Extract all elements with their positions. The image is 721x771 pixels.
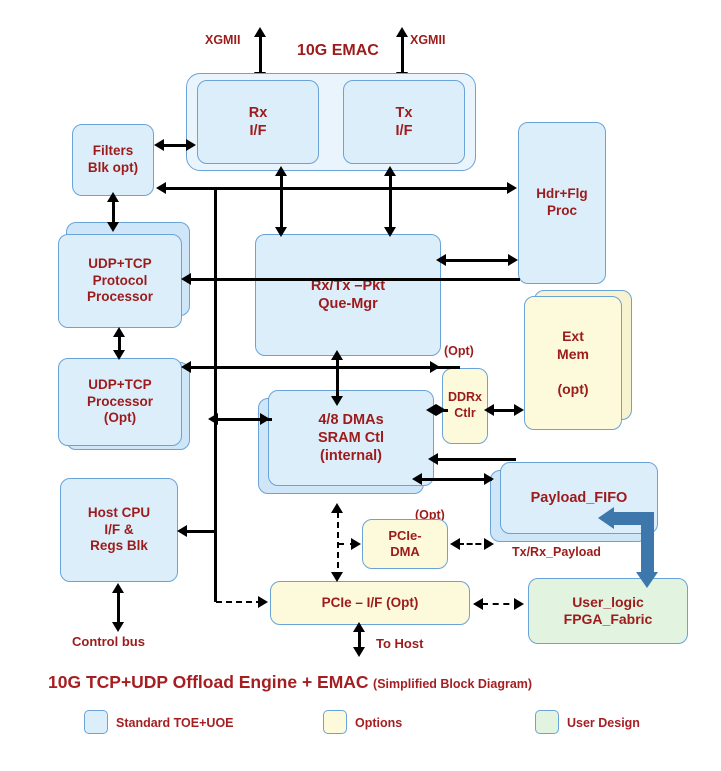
block-host-cpu-label: Host CPU I/F & Regs Blk [85, 505, 153, 556]
conn-bus-hostcpu-head [177, 525, 187, 537]
legend-label-user-design: User Design [567, 716, 640, 730]
xgmii-left-line [259, 36, 262, 76]
conn-dma-payload-head-r [484, 473, 494, 485]
block-filters[interactable]: Filters Blk opt) [72, 124, 154, 196]
legend-swatch-user-design [535, 710, 559, 734]
conn-filters-rxif-head-l [154, 139, 164, 151]
conn-pciedma-payload-head-r [484, 538, 494, 550]
block-rx-if-label: Rx I/F [246, 104, 271, 140]
legend-swatch-standard [84, 710, 108, 734]
diagram-title-main: 10G TCP+UDP Offload Engine + EMAC [48, 672, 369, 692]
conn-ddrx-extmem-head-l [484, 404, 494, 416]
block-pcie-dma-label: PCIe- DMA [385, 528, 424, 561]
conn-quemgr-hdrflg-head-l [436, 254, 446, 266]
conn-filters-rxif-head-r [186, 139, 196, 151]
control-bus-arrowhead-up [112, 583, 124, 593]
xgmii-right-label: XGMII [410, 33, 445, 47]
block-host-cpu[interactable]: Host CPU I/F & Regs Blk [60, 478, 178, 582]
block-ext-mem[interactable]: Ext Mem (opt) [524, 296, 622, 430]
bus-top-head-right [507, 182, 517, 194]
conn-right-dma [436, 458, 516, 461]
diagram-title: 10G TCP+UDP Offload Engine + EMAC (Simpl… [48, 672, 532, 693]
legend-label-standard: Standard TOE+UOE [116, 716, 234, 730]
conn-bus-hostcpu [186, 530, 216, 533]
bus-top-horizontal [165, 187, 510, 190]
conn-dma-pcie-head-u [331, 503, 343, 513]
conn-dma-ddrx-head-l [426, 404, 436, 416]
block-user-logic-label: User_logic FPGA_Fabric [561, 594, 656, 629]
block-pkt-que-mgr[interactable]: Rx/Tx –Pkt Que-Mgr [255, 234, 441, 356]
conn-txif-quemgr-head-u [384, 166, 396, 176]
block-udp-tcp-protocol-processor[interactable]: UDP+TCP Protocol Processor [58, 234, 182, 328]
conn-protoproc-proc-head-u [113, 327, 125, 337]
block-tx-if[interactable]: Tx I/F [343, 80, 465, 164]
to-host-arrowhead-down [353, 647, 365, 657]
bus-left-vertical [214, 187, 217, 602]
payload-arrow-head-down [636, 572, 658, 588]
payload-arrow-head-left [598, 507, 614, 529]
conn-row-ddrx-head [430, 361, 440, 373]
control-bus-arrowhead-down [112, 622, 124, 632]
conn-rxif-quemgr-head-d [275, 227, 287, 237]
legend-label-options: Options [355, 716, 402, 730]
conn-pcieif-userlogic-head-l [473, 598, 483, 610]
conn-right-dma-head [428, 453, 438, 465]
payload-arrow-horizontal [612, 512, 654, 525]
block-udp-tcp-protocol-processor-label: UDP+TCP Protocol Processor [84, 256, 156, 307]
conn-pcieif-userlogic-head-r [514, 598, 524, 610]
conn-bus-pcieif-head [258, 596, 268, 608]
conn-dma-pcie-head-d [331, 572, 343, 582]
block-pcie-dma[interactable]: PCIe- DMA [362, 519, 448, 569]
emac-group-label: 10G EMAC [297, 42, 379, 60]
conn-txif-quemgr-head-d [384, 227, 396, 237]
diagram-title-sub: (Simplified Block Diagram) [373, 677, 532, 691]
conn-ddrx-extmem-head-r [514, 404, 524, 416]
control-bus-line [117, 592, 120, 626]
conn-junction-pciedma-head [351, 538, 361, 550]
conn-bus-dma-upper-head-l [208, 413, 218, 425]
conn-bus-dma-upper-head-r [260, 413, 270, 425]
conn-quemgr-hdrflg-head-r [508, 254, 518, 266]
conn-quemgr-dma-head-d [331, 396, 343, 406]
block-filters-label: Filters Blk opt) [85, 143, 141, 177]
conn-pciedma-payload-head-l [450, 538, 460, 550]
block-user-logic[interactable]: User_logic FPGA_Fabric [528, 578, 688, 644]
conn-dma-payload-head-l [412, 473, 422, 485]
conn-dma-pcie-vert-dashed [337, 512, 339, 578]
conn-txif-quemgr [389, 172, 392, 234]
xgmii-left-arrowhead-up [254, 27, 266, 37]
block-rx-if[interactable]: Rx I/F [197, 80, 319, 164]
block-dmas-sram[interactable]: 4/8 DMAs SRAM Ctl (internal) [268, 390, 434, 486]
conn-bus-udpproc-opt-head [181, 361, 191, 373]
conn-bus-pcieif-dashed [216, 601, 262, 603]
conn-quemgr-dma-head-u [331, 350, 343, 360]
conn-bus-protoproc [190, 278, 520, 281]
conn-rxif-quemgr-head-u [275, 166, 287, 176]
block-ddrx-ctlr-label: DDRx Ctlr [445, 390, 485, 421]
to-host-arrowhead-up [353, 622, 365, 632]
block-dmas-sram-label: 4/8 DMAs SRAM Ctl (internal) [315, 411, 387, 465]
block-diagram-canvas: XGMII 10G EMAC XGMII Rx I/F Tx I/F Filte… [0, 0, 721, 771]
conn-filters-protoproc-head-u [107, 192, 119, 202]
conn-row-ddrx [336, 366, 432, 369]
conn-bus-protoproc-head [181, 273, 191, 285]
tx-rx-payload-label: Tx/Rx_Payload [512, 545, 601, 559]
opt-ddrx-label: (Opt) [444, 344, 474, 358]
to-host-label: To Host [376, 636, 423, 651]
block-pcie-if-label: PCIe – I/F (Opt) [319, 595, 422, 612]
xgmii-right-line [401, 36, 404, 76]
conn-quemgr-hdrflg [444, 259, 514, 262]
legend-swatch-options [323, 710, 347, 734]
block-tx-if-label: Tx I/F [393, 104, 416, 140]
conn-dma-payload [420, 478, 492, 481]
xgmii-right-arrowhead-up [396, 27, 408, 37]
block-udp-tcp-processor-opt[interactable]: UDP+TCP Processor (Opt) [58, 358, 182, 446]
conn-rxif-quemgr [280, 172, 283, 234]
conn-protoproc-proc-head-d [113, 350, 125, 360]
bus-top-head-left [156, 182, 166, 194]
block-pkt-que-mgr-label: Rx/Tx –Pkt Que-Mgr [308, 277, 388, 313]
conn-dma-ddrx-head-r [436, 404, 446, 416]
control-bus-label: Control bus [72, 634, 145, 649]
block-ext-mem-label: Ext Mem (opt) [554, 328, 592, 398]
block-pcie-if[interactable]: PCIe – I/F (Opt) [270, 581, 470, 625]
block-payload-fifo-label: Payload_FIFO [528, 489, 631, 507]
xgmii-left-label: XGMII [205, 33, 240, 47]
block-udp-tcp-processor-opt-label: UDP+TCP Processor (Opt) [84, 377, 156, 428]
block-hdr-flg-proc-label: Hdr+Flg Proc [533, 186, 590, 220]
block-hdr-flg-proc[interactable]: Hdr+Flg Proc [518, 122, 606, 284]
block-ddrx-ctlr[interactable]: DDRx Ctlr [442, 368, 488, 444]
conn-filters-protoproc-head-d [107, 222, 119, 232]
